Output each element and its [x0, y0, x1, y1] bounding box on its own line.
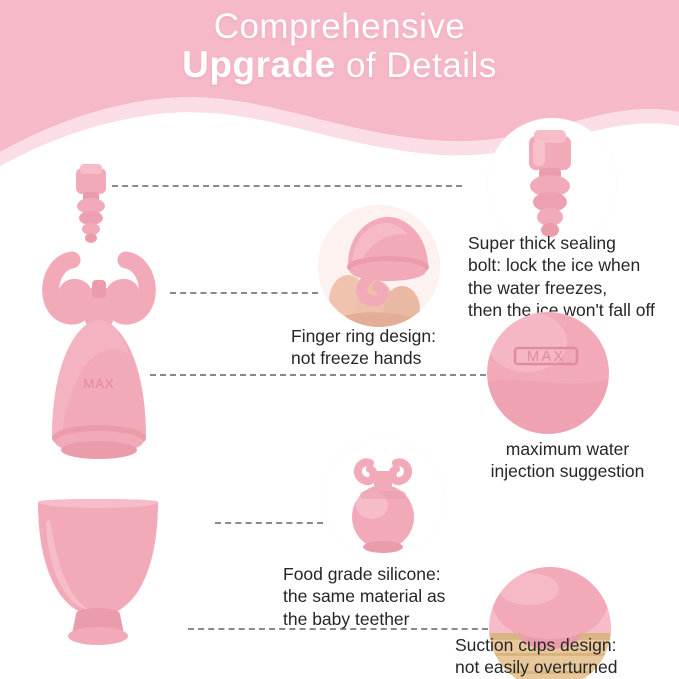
sealing-bolt-zoom-svg: [487, 118, 617, 248]
caption-line: the baby teether: [283, 608, 493, 630]
caption-max: maximum water injection suggestion: [460, 438, 675, 483]
finger-ring-zoom-svg: [318, 205, 440, 327]
page-title: Comprehensive Upgrade of Details: [0, 8, 679, 84]
finger-ring-icon: [318, 205, 440, 327]
callout-circle-max: MAX: [487, 312, 609, 434]
sealing-bolt-shape: [76, 164, 106, 243]
caption-sealing-bolt: Super thick sealing bolt: lock the ice w…: [468, 232, 678, 322]
finger-ring-shape: [51, 260, 148, 326]
caption-line: Suction cups design:: [455, 634, 679, 656]
max-text: MAX: [527, 348, 566, 365]
whole-mold-zoom-svg: [322, 437, 444, 559]
product-lid-illustration: MAX: [30, 160, 260, 460]
bowl-svg: [28, 480, 258, 660]
whole-mold-icon: [322, 437, 444, 559]
callout-circle-finger-ring: [318, 205, 440, 327]
caption-line: not freeze hands: [291, 347, 491, 369]
leader-line-silicone: [215, 522, 323, 524]
caption-line: bolt: lock the ice when: [468, 254, 678, 276]
leader-line-finger-ring: [170, 292, 318, 294]
caption-suction: Suction cups design: not easily overturn…: [455, 634, 679, 679]
max-zoom-svg: MAX: [487, 312, 609, 434]
callout-circle-sealing-bolt: [487, 118, 617, 248]
lid-svg: MAX: [30, 160, 260, 460]
sealing-bolt-icon: [487, 118, 617, 248]
product-infographic: Comprehensive Upgrade of Details: [0, 0, 679, 679]
title-line-1: Comprehensive: [0, 8, 679, 45]
max-label-on-dome: MAX: [83, 376, 114, 391]
callout-circle-silicone: [322, 437, 444, 559]
caption-line: Finger ring design:: [291, 325, 491, 347]
caption-line: the same material as: [283, 585, 493, 607]
product-bowl-illustration: [28, 480, 258, 660]
title-line-2-bold: Upgrade: [182, 44, 336, 85]
max-line-icon: MAX: [487, 312, 609, 434]
caption-line: not easily overturned: [455, 656, 679, 678]
caption-finger-ring: Finger ring design: not freeze hands: [291, 325, 491, 370]
caption-line: maximum water: [460, 438, 675, 460]
leader-line-max: [150, 374, 486, 376]
caption-line: Super thick sealing: [468, 232, 678, 254]
dome-shape: MAX: [52, 320, 146, 459]
title-line-2-rest: of Details: [336, 46, 497, 85]
caption-line: Food grade silicone:: [283, 563, 493, 585]
caption-line: the water freezes,: [468, 277, 678, 299]
caption-line: injection suggestion: [460, 460, 675, 482]
caption-silicone: Food grade silicone: the same material a…: [283, 563, 493, 630]
leader-line-sealing-bolt: [112, 185, 462, 187]
title-line-2: Upgrade of Details: [0, 45, 679, 84]
